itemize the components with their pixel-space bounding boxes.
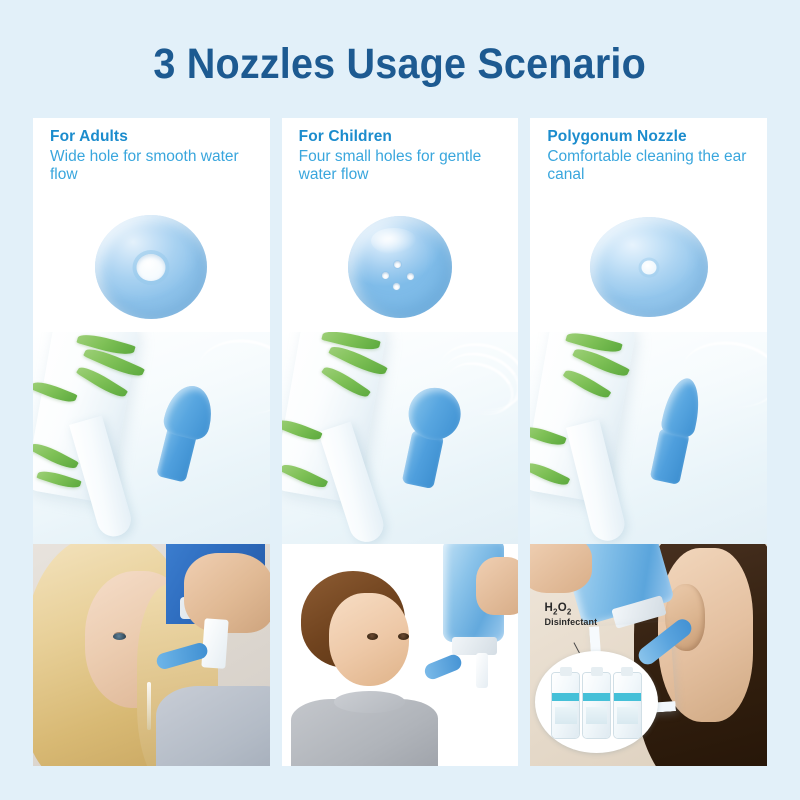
nozzle-hole	[641, 260, 656, 274]
small-hole-nozzle-icon	[590, 217, 708, 317]
disinfectant-bottle	[583, 673, 610, 738]
bottle-cap	[621, 667, 633, 676]
disinfectant-bottle	[614, 673, 641, 738]
heading-polygonum: Polygonum Nozzle	[547, 128, 757, 146]
caption-polygonum: Polygonum Nozzle Comfortable cleaning th…	[547, 128, 757, 185]
turtleneck-collar	[334, 691, 405, 713]
nozzle-hole	[382, 272, 389, 279]
bottle-label-body	[617, 707, 639, 724]
nozzle-card-children: For Children Four small holes for gentle…	[282, 118, 519, 332]
description-polygonum: Comfortable cleaning the ear canal	[547, 148, 757, 185]
four-hole-nozzle-icon	[348, 216, 452, 318]
usage-photo-polygonum: H2O2 Disinfectant	[530, 544, 767, 766]
heading-children: For Children	[299, 128, 509, 146]
bottle-label-band	[583, 693, 610, 701]
disinfectant-bottle	[552, 673, 579, 738]
page-title: 3 Nozzles Usage Scenario	[154, 40, 647, 89]
bottle-label-body	[555, 707, 577, 724]
woman-nasal-rinse-photo	[33, 544, 270, 766]
nozzle-stage-children	[282, 204, 519, 329]
hand	[530, 544, 592, 593]
caption-adults: For Adults Wide hole for smooth water fl…	[50, 128, 260, 185]
eye	[398, 633, 409, 640]
product-scene-polygonum	[530, 332, 767, 544]
wide-hole-nozzle-icon	[95, 215, 207, 319]
description-adults: Wide hole for smooth water flow	[50, 148, 260, 185]
ear-cleaning-photo: H2O2 Disinfectant	[530, 544, 767, 766]
description-children: Four small holes for gentle water flow	[299, 148, 509, 185]
product-scene-children	[282, 332, 519, 544]
disinfectant-bottles-inset	[535, 651, 658, 753]
h2o2-formula: H2O2	[545, 602, 598, 616]
child-nasal-rinse-photo	[282, 544, 519, 766]
eye	[367, 633, 378, 640]
hand	[476, 557, 519, 615]
nozzle-card-polygonum: Polygonum Nozzle Comfortable cleaning th…	[530, 118, 767, 332]
bottle-label-band	[614, 693, 641, 701]
heading-adults: For Adults	[50, 128, 260, 146]
nozzle-grid: For Adults Wide hole for smooth water fl…	[33, 118, 767, 766]
disinfectant-label: Disinfectant	[545, 617, 598, 627]
nozzle-hole	[137, 254, 166, 281]
water-drip	[147, 682, 151, 731]
title-bar: 3 Nozzles Usage Scenario	[0, 28, 800, 100]
nozzle-hole	[407, 273, 414, 280]
bottle-cap	[560, 667, 572, 676]
usage-photo-children	[282, 544, 519, 766]
nozzle-on-bottle-photo	[33, 332, 270, 544]
h2o2-callout: H2O2 Disinfectant	[545, 602, 598, 627]
eye	[113, 633, 126, 640]
bottle-cap	[591, 667, 603, 676]
tapered-nozzle-stream-photo	[530, 332, 767, 544]
nozzle-stage-polygonum	[530, 204, 767, 329]
nozzle-highlight	[371, 228, 417, 255]
infographic-page: 3 Nozzles Usage Scenario For Adults Wide…	[0, 0, 800, 800]
product-scene-adults	[33, 332, 270, 544]
bottle-label-body	[586, 707, 608, 724]
nozzle-stage-adults	[33, 204, 270, 329]
bottle-tube	[476, 653, 488, 689]
nozzle-card-adults: For Adults Wide hole for smooth water fl…	[33, 118, 270, 332]
usage-photo-adults	[33, 544, 270, 766]
bulb-nozzle-spray-photo	[282, 332, 519, 544]
bottle-label-band	[552, 693, 579, 701]
caption-children: For Children Four small holes for gentle…	[299, 128, 509, 185]
bottle-tube	[202, 619, 229, 669]
bottle-cap	[452, 637, 497, 655]
shirt	[156, 686, 270, 766]
